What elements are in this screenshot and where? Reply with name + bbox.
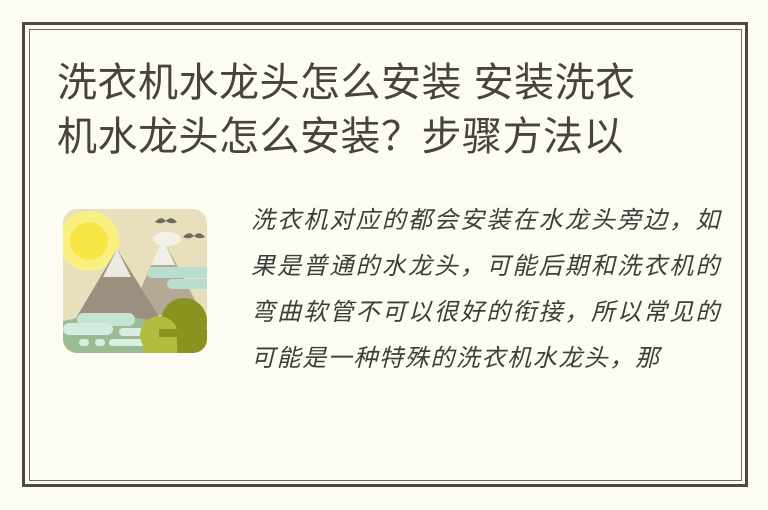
article-body-block: 洗衣机对应的都会安装在水龙头旁边，如果是普通的水龙头，可能后期和洗衣机的弯曲软管… [51,197,723,467]
article-page: 洗衣机水龙头怎么安装 安装洗衣 机水龙头怎么安装？步骤方法以 [0,0,768,510]
article-thumbnail [51,197,219,365]
page-title-line-1: 洗衣机水龙头怎么安装 安装洗衣 [57,56,722,110]
page-content: 洗衣机水龙头怎么安装 安装洗衣 机水龙头怎么安装？步骤方法以 [29,29,742,481]
landscape-illustration-icon [51,197,219,365]
article-paragraph: 洗衣机对应的都会安装在水龙头旁边，如果是普通的水龙头，可能后期和洗衣机的弯曲软管… [251,197,721,381]
page-title: 洗衣机水龙头怎么安装 安装洗衣 机水龙头怎么安装？步骤方法以 [57,56,722,164]
page-title-line-2: 机水龙头怎么安装？步骤方法以 [57,110,722,164]
